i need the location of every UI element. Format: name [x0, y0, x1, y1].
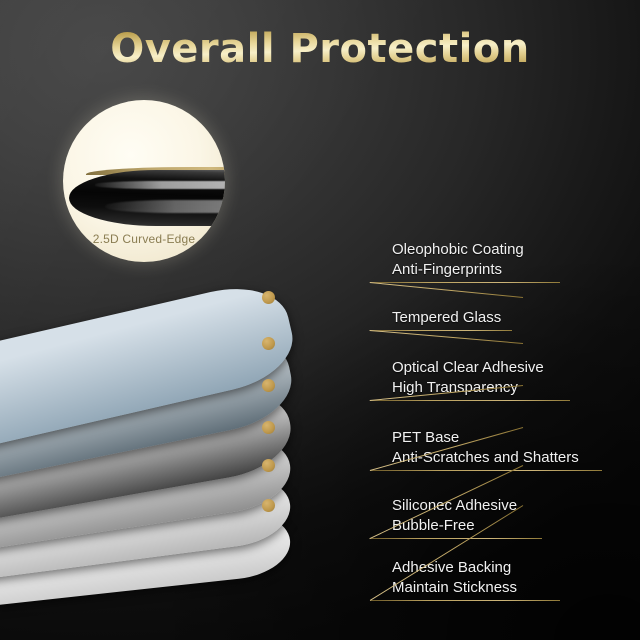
callout-dot-pet-base	[262, 421, 275, 434]
callout-dot-adhesive-backing	[262, 499, 275, 512]
callout-dot-siliconec-adhesive	[262, 459, 275, 472]
layer-label-siliconec-adhesive: Siliconec AdhesiveBubble-Free	[392, 496, 517, 536]
label-underline-adhesive-backing	[370, 600, 560, 601]
layer-label-optical-clear-adhesive: Optical Clear AdhesiveHigh Transparency	[392, 358, 544, 398]
layer-label-subtitle-pet-base: Anti-Scratches and Shatters	[392, 448, 579, 468]
layer-label-title-tempered-glass: Tempered Glass	[392, 308, 501, 328]
callout-dot-tempered-glass	[262, 337, 275, 350]
layer-stack-diagram	[0, 255, 330, 595]
layer-label-oleophobic: Oleophobic CoatingAnti-Fingerprints	[392, 240, 524, 280]
layer-label-pet-base: PET BaseAnti-Scratches and Shatters	[392, 428, 579, 468]
curved-glass-edge-icon	[69, 170, 225, 227]
layer-label-adhesive-backing: Adhesive BackingMaintain Stickness	[392, 558, 517, 598]
inset-caption: 2.5D Curved-Edge	[63, 232, 225, 246]
callout-dot-oleophobic	[262, 291, 275, 304]
edge-highlight-upper	[95, 181, 225, 189]
layer-label-title-oleophobic: Oleophobic Coating	[392, 240, 524, 260]
label-underline-oleophobic	[370, 282, 560, 283]
layer-label-subtitle-adhesive-backing: Maintain Stickness	[392, 578, 517, 598]
layer-label-title-optical-clear-adhesive: Optical Clear Adhesive	[392, 358, 544, 378]
inset-circle: 2.5D Curved-Edge	[63, 100, 225, 262]
label-underline-pet-base	[370, 470, 602, 471]
layer-label-tempered-glass: Tempered Glass	[392, 308, 501, 328]
label-underline-siliconec-adhesive	[370, 538, 542, 539]
layer-label-list: Oleophobic CoatingAnti-FingerprintsTempe…	[370, 0, 630, 640]
layer-label-title-siliconec-adhesive: Siliconec Adhesive	[392, 496, 517, 516]
layer-label-subtitle-oleophobic: Anti-Fingerprints	[392, 260, 524, 280]
label-underline-optical-clear-adhesive	[370, 400, 570, 401]
curved-edge-inset: 2.5D Curved-Edge	[63, 100, 225, 262]
callout-dot-optical-clear-adhesive	[262, 379, 275, 392]
product-infographic: Overall Protection 2.5D Curved-Edge Oleo…	[0, 0, 640, 640]
